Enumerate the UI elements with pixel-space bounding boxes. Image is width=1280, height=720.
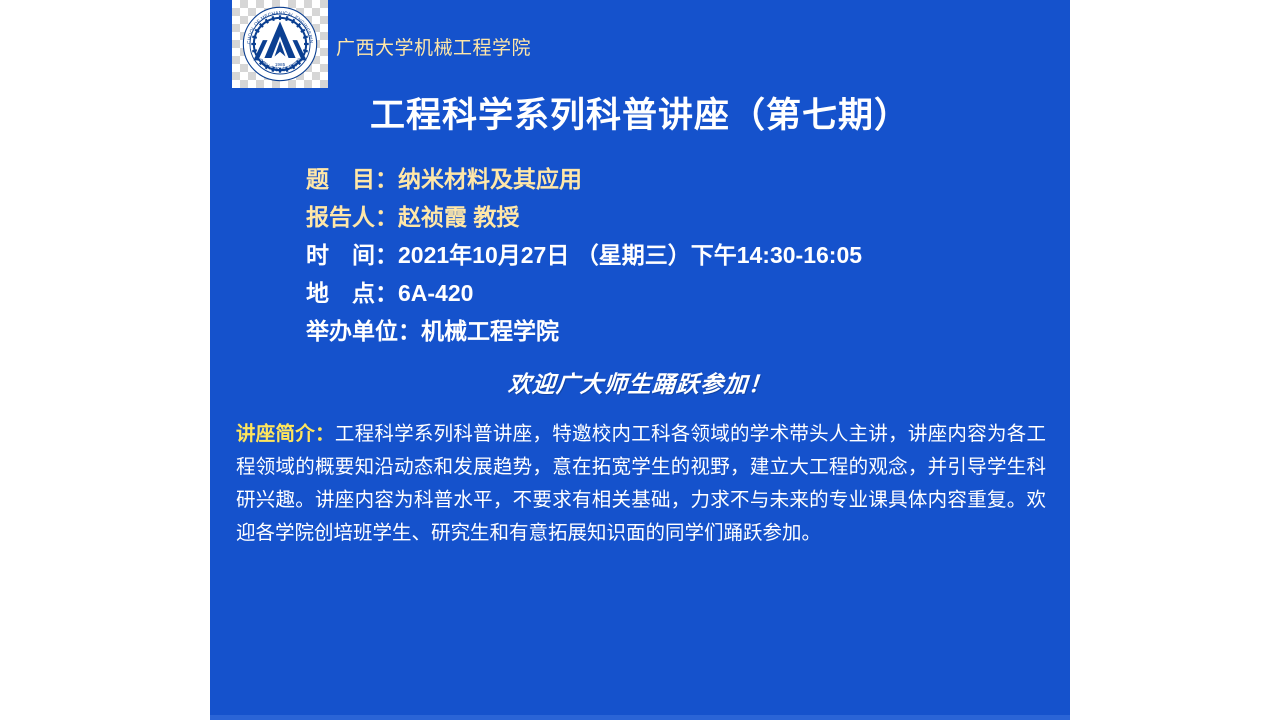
poster-panel: 1985 SCHOOL OF MECHANICAL ENGINEERING 广西…: [210, 0, 1070, 720]
svg-text:1985: 1985: [275, 62, 286, 67]
info-row-venue: 地 点：6A-420: [306, 274, 1006, 312]
info-label-organizer: 举办单位：: [306, 318, 421, 344]
info-label-venue: 地 点：: [306, 280, 398, 306]
info-label-topic: 题 目：: [306, 166, 398, 192]
school-name: 广西大学机械工程学院: [336, 38, 531, 60]
description-body: 工程科学系列科普讲座，特邀校内工科各领域的学术带头人主讲，讲座内容为各工程领域的…: [236, 423, 1046, 544]
welcome-message: 欢迎广大师生踊跃参加！: [210, 368, 1070, 402]
info-label-time: 时 间：: [306, 242, 398, 268]
info-row-speaker: 报告人：赵祯霞 教授: [306, 198, 1006, 236]
page-title: 工程科学系列科普讲座（第七期）: [210, 94, 1070, 138]
info-value-venue: 6A-420: [398, 280, 473, 306]
info-row-time: 时 间：2021年10月27日 （星期三）下午14:30-16:05: [306, 236, 1006, 274]
poster-root: 1985 SCHOOL OF MECHANICAL ENGINEERING 广西…: [0, 0, 1280, 720]
logo-box: 1985 SCHOOL OF MECHANICAL ENGINEERING 广西…: [232, 0, 328, 88]
info-value-organizer: 机械工程学院: [421, 318, 559, 344]
lecture-description: 讲座简介：工程科学系列科普讲座，特邀校内工科各领域的学术带头人主讲，讲座内容为各…: [236, 418, 1046, 550]
info-row-organizer: 举办单位：机械工程学院: [306, 312, 1006, 350]
description-label: 讲座简介：: [236, 423, 335, 445]
info-value-speaker: 赵祯霞 教授: [398, 204, 519, 230]
info-value-time: 2021年10月27日 （星期三）下午14:30-16:05: [398, 242, 862, 268]
university-emblem-icon: 1985 SCHOOL OF MECHANICAL ENGINEERING 广西…: [241, 5, 319, 83]
info-value-topic: 纳米材料及其应用: [398, 166, 582, 192]
info-row-topic: 题 目：纳米材料及其应用: [306, 160, 1006, 198]
poster-header: 1985 SCHOOL OF MECHANICAL ENGINEERING 广西…: [210, 0, 1070, 90]
info-block: 题 目：纳米材料及其应用 报告人：赵祯霞 教授 时 间：2021年10月27日 …: [306, 160, 1006, 350]
info-label-speaker: 报告人：: [306, 204, 398, 230]
